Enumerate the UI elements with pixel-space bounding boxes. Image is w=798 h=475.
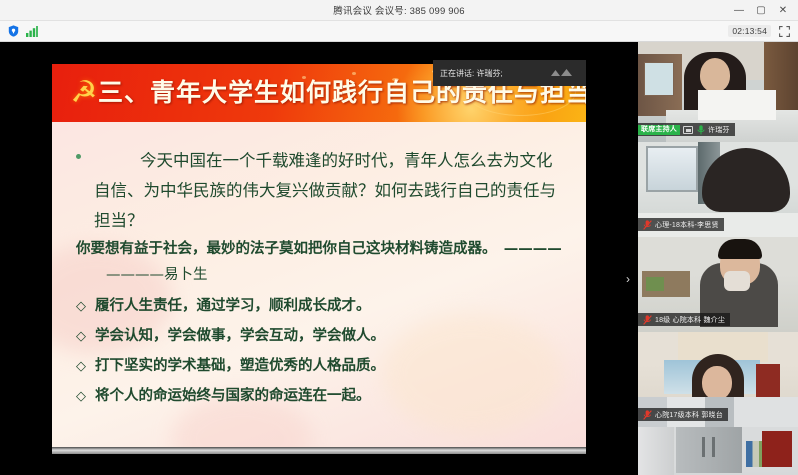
participant-tile[interactable] (638, 427, 798, 475)
slide-quote-attribution: ————易卜生 (76, 262, 576, 288)
active-speaker-label: 正在讲话: 许瑞芬; (433, 68, 503, 79)
list-item-label: 履行人生责任，通过学习，顺利成长成才。 (95, 294, 371, 315)
participant-video-strip[interactable]: 联席主持人 许瑞芬 (638, 42, 798, 475)
window-title: 腾讯会议 会议号: 385 099 906 (333, 3, 464, 17)
participant-name-row: 18级 心院本科 魏介尘 (638, 313, 730, 326)
meeting-timer: 02:13:54 (728, 25, 771, 37)
participant-name-row: 联席主持人 许瑞芬 (638, 123, 735, 136)
presentation-slide: ☭ 三、青年大学生如何践行自己的责任与担当 今天中国在一个千载难逢的好时代，青年… (52, 64, 586, 454)
window-title-bar: 腾讯会议 会议号: 385 099 906 — ▢ ✕ (0, 0, 798, 21)
participant-name-row: 心理-18本科-李思贤 (638, 218, 724, 231)
participant-tile[interactable]: 心院17级本科 郭晓台 (638, 332, 798, 427)
list-item-label: 将个人的命运始终与国家的命运连在一起。 (95, 384, 371, 405)
participant-video-feed (638, 427, 798, 475)
meeting-toolbar: 02:13:54 (0, 21, 798, 42)
diamond-bullet-icon: ◇ (76, 299, 86, 314)
microphone-muted-icon (643, 410, 652, 420)
list-item: ◇ 履行人生责任，通过学习，顺利成长成才。 (76, 294, 576, 324)
minimize-icon[interactable]: — (728, 0, 750, 21)
microphone-on-icon (696, 125, 705, 135)
active-speaker-indicator: 正在讲话: 许瑞芬; (433, 60, 586, 86)
participant-name-row: 心院17级本科 郭晓台 (638, 408, 728, 421)
diamond-bullet-icon: ◇ (76, 389, 86, 404)
participant-tile[interactable]: 联席主持人 许瑞芬 (638, 42, 798, 142)
window-controls: — ▢ ✕ (728, 0, 794, 21)
toolbar-left-group (0, 25, 38, 37)
screen-share-icon (683, 126, 693, 134)
co-host-badge: 联席主持人 (638, 125, 680, 135)
participant-name: 18级 心院本科 魏介尘 (655, 315, 725, 325)
slide-paragraph-main: 今天中国在一个千载难逢的好时代，青年人怎么去为文化自信、为中华民族的伟大复兴做贡… (76, 146, 566, 236)
participant-name: 心院17级本科 郭晓台 (655, 410, 723, 420)
toolbar-right-group: 02:13:54 (728, 25, 798, 37)
diamond-bullet-icon: ◇ (76, 329, 86, 344)
slide-body: 今天中国在一个千载难逢的好时代，青年人怎么去为文化自信、为中华民族的伟大复兴做贡… (52, 122, 586, 447)
maximize-icon[interactable]: ▢ (750, 0, 772, 21)
list-item-label: 打下坚实的学术基础，塑造优秀的人格品质。 (95, 354, 385, 375)
bullet-dot-icon (76, 154, 81, 159)
slide-quote: 你要想有益于社会，最妙的法子莫如把你自己这块材料铸造成器。 ———— ————易… (76, 236, 576, 288)
tencent-meeting-window: 腾讯会议 会议号: 385 099 906 — ▢ ✕ (0, 0, 798, 475)
signal-bars-icon[interactable] (26, 26, 38, 37)
participant-name: 许瑞芬 (708, 125, 730, 135)
list-item-label: 学会认知，学会做事，学会互动，学会做人。 (95, 324, 385, 345)
slide-paragraph-main-text: 今天中国在一个千载难逢的好时代，青年人怎么去为文化自信、为中华民族的伟大复兴做贡… (76, 146, 566, 236)
participant-name: 心理-18本科-李思贤 (655, 220, 719, 230)
participant-tile[interactable]: 18级 心院本科 魏介尘 (638, 237, 798, 332)
diamond-bullet-icon: ◇ (76, 359, 86, 374)
slide-bullet-list: ◇ 履行人生责任，通过学习，顺利成长成才。 ◇ 学会认知，学会做事，学会互动，学… (76, 294, 576, 414)
list-item: ◇ 学会认知，学会做事，学会互动，学会做人。 (76, 324, 576, 354)
slide-quote-text: 你要想有益于社会，最妙的法子莫如把你自己这块材料铸造成器。 ———— (76, 241, 562, 257)
shared-screen-stage[interactable]: ☭ 三、青年大学生如何践行自己的责任与担当 今天中国在一个千载难逢的好时代，青年… (0, 42, 638, 475)
collapse-panel-chevron-icon[interactable]: › (622, 264, 634, 294)
microphone-muted-icon (643, 315, 652, 325)
list-item: ◇ 打下坚实的学术基础，塑造优秀的人格品质。 (76, 354, 576, 384)
shield-icon[interactable] (8, 25, 19, 37)
fullscreen-icon[interactable] (779, 26, 790, 37)
audio-wave-icon (550, 67, 586, 79)
list-item: ◇ 将个人的命运始终与国家的命运连在一起。 (76, 384, 576, 414)
participant-tile[interactable]: 心理-18本科-李思贤 (638, 142, 798, 237)
microphone-muted-icon (643, 220, 652, 230)
close-icon[interactable]: ✕ (772, 0, 794, 21)
